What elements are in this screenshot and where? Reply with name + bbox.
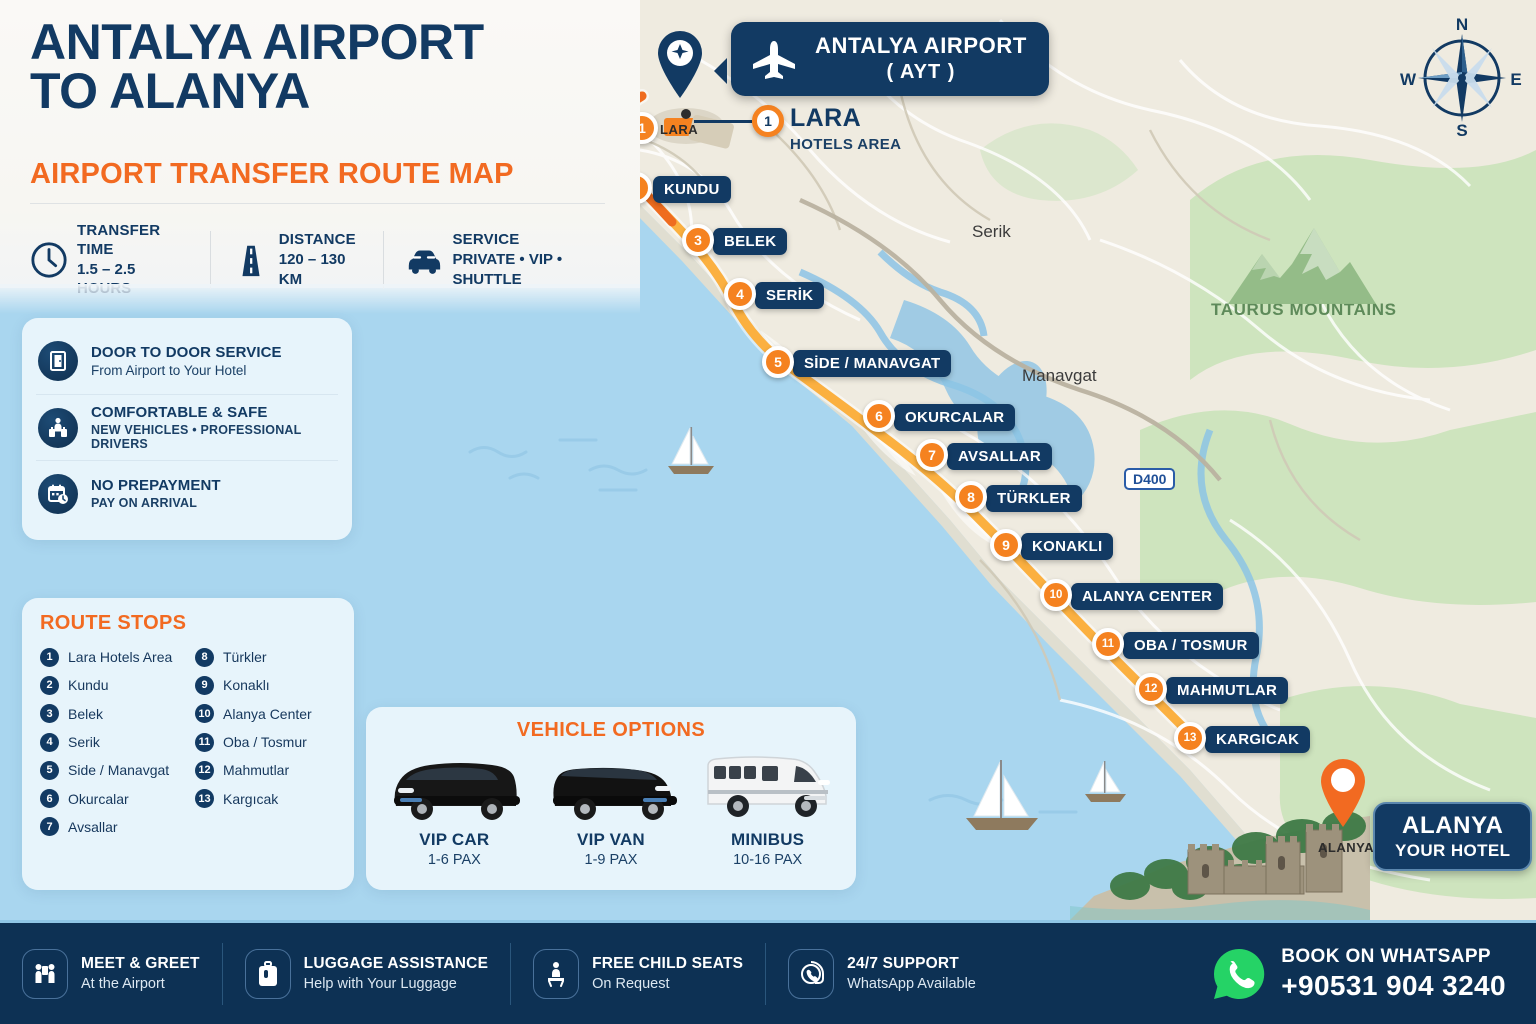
- route-stop-item[interactable]: 3Belek: [40, 700, 181, 728]
- calendar-clock-icon: [38, 474, 78, 514]
- route-stop-item[interactable]: 12Mahmutlar: [195, 756, 336, 784]
- footer-support-desc: WhatsApp Available: [847, 976, 976, 992]
- map-marker-12[interactable]: 12: [1135, 673, 1167, 705]
- route-stop-item[interactable]: 8Türkler: [195, 643, 336, 671]
- footer-meet-greet: MEET & GREET At the Airport: [0, 943, 222, 1005]
- route-stop-item[interactable]: 11Oba / Tosmur: [195, 728, 336, 756]
- lara-callout-subtitle: HOTELS AREA: [790, 136, 901, 153]
- map-marker-label-11[interactable]: OBA / TOSMUR: [1123, 632, 1259, 659]
- footer-bar: MEET & GREET At the Airport LUGGAGE ASSI…: [0, 920, 1536, 1024]
- fact-service-label: SERVICE: [452, 231, 620, 250]
- place-label-serik: Serik: [972, 222, 1011, 242]
- map-marker-8[interactable]: 8: [955, 481, 987, 513]
- route-stop-number: 9: [195, 676, 214, 695]
- vip-car-image: [379, 746, 529, 824]
- footer-luggage-title: LUGGAGE ASSISTANCE: [304, 955, 488, 973]
- destination-label: ALANYA YOUR HOTEL: [1373, 802, 1532, 871]
- footer-meet-greet-desc: At the Airport: [81, 976, 200, 992]
- lara-callout-title: LARA: [790, 104, 901, 133]
- svg-text:N: N: [1456, 16, 1468, 34]
- sailboat-icon: [662, 424, 722, 480]
- route-stop-label: Mahmutlar: [223, 762, 289, 778]
- feature-comfortable-safe-title: COMFORTABLE & SAFE: [91, 404, 336, 421]
- vip-van-name: VIP VAN: [536, 830, 686, 850]
- infographic-root: TAURUS MOUNTAINS: [0, 0, 1536, 1024]
- road-shield-d400: D400: [1124, 468, 1175, 490]
- footer-child-seats-desc: On Request: [592, 976, 743, 992]
- route-stop-label: Alanya Center: [223, 706, 312, 722]
- lara-callout: LARA HOTELS AREA: [790, 104, 901, 153]
- whatsapp-cta[interactable]: BOOK ON WHATSAPP +90531 904 3240: [1211, 946, 1536, 1002]
- feature-no-prepayment-title: NO PREPAYMENT: [91, 477, 221, 494]
- vehicle-option-minibus[interactable]: MINIBUS 10-16 PAX: [693, 746, 843, 868]
- route-stop-item[interactable]: 4Serik: [40, 728, 181, 756]
- footer-luggage-desc: Help with Your Luggage: [304, 976, 488, 992]
- route-stop-number: 13: [195, 789, 214, 808]
- header-divider: [30, 203, 605, 204]
- map-marker-13[interactable]: 13: [1174, 722, 1206, 754]
- child-seat-icon: [533, 949, 579, 999]
- minibus-name: MINIBUS: [693, 830, 843, 850]
- fact-distance-label: DISTANCE: [279, 231, 364, 250]
- vehicle-option-vip-car[interactable]: VIP CAR 1-6 PAX: [379, 746, 529, 868]
- page-title-line1: ANTALYA AIRPORT: [30, 18, 590, 67]
- whatsapp-icon: [1211, 946, 1267, 1002]
- fact-distance-value: 120 – 130 KM: [279, 250, 364, 289]
- route-stop-label: Kundu: [68, 677, 108, 693]
- map-marker-label-2[interactable]: KUNDU: [653, 176, 731, 203]
- vehicle-options-panel: VEHICLE OPTIONS VIP CAR 1-6 PAX: [366, 707, 856, 890]
- suitcase-icon: [245, 949, 291, 999]
- route-stops-column-1: 1Lara Hotels Area2Kundu3Belek4Serik5Side…: [40, 643, 181, 841]
- map-marker-4[interactable]: 4: [724, 278, 756, 310]
- route-stop-number: 3: [40, 704, 59, 723]
- route-stop-number: 7: [40, 817, 59, 836]
- luggage-person-icon: [38, 408, 78, 448]
- whatsapp-label: BOOK ON WHATSAPP: [1281, 946, 1506, 968]
- vip-car-name: VIP CAR: [379, 830, 529, 850]
- route-stop-number: 11: [195, 733, 214, 752]
- map-marker-7[interactable]: 7: [916, 439, 948, 471]
- map-marker-label-3[interactable]: BELEK: [713, 228, 787, 255]
- place-label-manavgat: Manavgat: [1022, 366, 1097, 386]
- footer-meet-greet-title: MEET & GREET: [81, 955, 200, 973]
- route-stop-item[interactable]: 13Kargıcak: [195, 784, 336, 812]
- mountains-illustration: [1222, 218, 1382, 308]
- clock-icon: [30, 241, 68, 279]
- map-marker-label-4[interactable]: SERİK: [755, 282, 824, 309]
- map-marker-11[interactable]: 11: [1092, 628, 1124, 660]
- meet-greet-icon: [22, 949, 68, 999]
- route-stop-number: 8: [195, 648, 214, 667]
- sailboat-icon: [958, 758, 1050, 844]
- route-stop-label: Kargıcak: [223, 791, 278, 807]
- route-stops-heading: ROUTE STOPS: [40, 612, 336, 635]
- map-marker-9[interactable]: 9: [990, 529, 1022, 561]
- feature-door-to-door-title: DOOR TO DOOR SERVICE: [91, 344, 282, 361]
- page-title-line2: TO ALANYA: [30, 67, 590, 116]
- map-marker-label-6[interactable]: OKURCALAR: [894, 404, 1015, 431]
- feature-door-to-door-desc: From Airport to Your Hotel: [91, 363, 282, 378]
- route-stop-label: Konaklı: [223, 677, 270, 693]
- fact-service-value: PRIVATE • VIP • SHUTTLE: [452, 250, 620, 289]
- page-title: ANTALYA AIRPORT TO ALANYA: [30, 18, 590, 116]
- whatsapp-phone: +90531 904 3240: [1281, 970, 1506, 1002]
- route-stop-label: Belek: [68, 706, 103, 722]
- footer-support-title: 24/7 SUPPORT: [847, 955, 976, 973]
- footer-luggage: LUGGAGE ASSISTANCE Help with Your Luggag…: [222, 943, 510, 1005]
- map-marker-label-8[interactable]: TÜRKLER: [986, 485, 1082, 512]
- car-icon: [405, 241, 443, 279]
- fact-service: SERVICE PRIVATE • VIP • SHUTTLE: [383, 231, 640, 289]
- route-stop-label: Avsallar: [68, 819, 118, 835]
- minibus-pax: 10-16 PAX: [693, 852, 843, 868]
- route-stop-label: Oba / Tosmur: [223, 734, 307, 750]
- route-stop-item[interactable]: 2Kundu: [40, 671, 181, 699]
- airport-pin-icon: [656, 28, 704, 98]
- destination-pin-icon: [1318, 755, 1368, 827]
- route-stop-item[interactable]: 1Lara Hotels Area: [40, 643, 181, 671]
- vip-car-pax: 1-6 PAX: [379, 852, 529, 868]
- fact-transfer-time-label: TRANSFER TIME: [77, 222, 190, 260]
- svg-text:W: W: [1400, 70, 1417, 89]
- footer-child-seats-title: FREE CHILD SEATS: [592, 955, 743, 973]
- road-icon: [232, 241, 270, 279]
- map-marker-label-12[interactable]: MAHMUTLAR: [1166, 677, 1288, 704]
- fact-transfer-time-value: 1.5 – 2.5 HOURS: [77, 260, 190, 299]
- map-marker-label-7[interactable]: AVSALLAR: [947, 443, 1052, 470]
- route-stop-number: 4: [40, 733, 59, 752]
- route-stops-column-2: 8Türkler9Konaklı10Alanya Center11Oba / T…: [195, 643, 336, 841]
- map-marker-label-10[interactable]: ALANYA CENTER: [1071, 583, 1223, 610]
- route-stop-label: Okurcalar: [68, 791, 129, 807]
- map-marker-10[interactable]: 10: [1040, 579, 1072, 611]
- headset-icon: [788, 949, 834, 999]
- vip-van-image: [536, 746, 686, 824]
- airport-callout-title: ANTALYA AIRPORT: [815, 33, 1027, 59]
- svg-text:S: S: [1456, 121, 1467, 140]
- destination-title: ALANYA: [1395, 812, 1510, 840]
- header: ANTALYA AIRPORT TO ALANYA AIRPORT TRANSF…: [0, 0, 640, 288]
- feature-door-to-door: DOOR TO DOOR SERVICE From Airport to You…: [36, 328, 338, 394]
- route-stop-label: Side / Manavgat: [68, 762, 169, 778]
- fact-distance: DISTANCE 120 – 130 KM: [210, 231, 384, 289]
- map-marker-label-5[interactable]: SİDE / MANAVGAT: [793, 350, 951, 377]
- route-stop-item[interactable]: 7Avsallar: [40, 813, 181, 841]
- route-stop-item[interactable]: 9Konaklı: [195, 671, 336, 699]
- footer-support: 24/7 SUPPORT WhatsApp Available: [765, 943, 998, 1005]
- map-marker-label-9[interactable]: KONAKLI: [1021, 533, 1113, 560]
- destination-subtitle: YOUR HOTEL: [1395, 841, 1510, 861]
- route-stop-item[interactable]: 6Okurcalar: [40, 784, 181, 812]
- route-stop-number: 10: [195, 704, 214, 723]
- map-marker-5[interactable]: 5: [762, 346, 794, 378]
- door-icon: [38, 341, 78, 381]
- feature-comfortable-safe-desc: NEW VEHICLES • PROFESSIONAL DRIVERS: [91, 423, 336, 451]
- route-stop-label: Serik: [68, 734, 100, 750]
- route-stop-number: 6: [40, 789, 59, 808]
- map-marker-label-13[interactable]: KARGICAK: [1205, 726, 1310, 753]
- route-stops-panel: ROUTE STOPS 1Lara Hotels Area2Kundu3Bele…: [22, 598, 354, 890]
- page-subtitle: AIRPORT TRANSFER ROUTE MAP: [30, 158, 514, 191]
- airplane-icon: [749, 39, 799, 79]
- route-stop-item[interactable]: 5Side / Manavgat: [40, 756, 181, 784]
- route-stop-label: Lara Hotels Area: [68, 649, 172, 665]
- map-marker-3[interactable]: 3: [682, 224, 714, 256]
- airport-callout-code: ( AYT ): [815, 61, 1027, 84]
- route-stop-label: Türkler: [223, 649, 267, 665]
- fact-transfer-time: TRANSFER TIME 1.5 – 2.5 HOURS: [30, 222, 210, 299]
- vehicle-options-heading: VEHICLE OPTIONS: [376, 719, 846, 742]
- route-stop-item[interactable]: 10Alanya Center: [195, 700, 336, 728]
- map-marker-6[interactable]: 6: [863, 400, 895, 432]
- alanya-town-label: ALANYA: [1318, 840, 1374, 855]
- feature-no-prepayment-desc: PAY ON ARRIVAL: [91, 496, 221, 510]
- route-stop-number: 1: [40, 648, 59, 667]
- route-stop-number: 12: [195, 761, 214, 780]
- lara-connector-line: [694, 120, 752, 123]
- map-marker-1-hollow[interactable]: 1: [752, 105, 784, 137]
- lara-town-label: LARA: [660, 122, 698, 137]
- compass-rose-icon: N S E W: [1398, 16, 1526, 140]
- svg-text:E: E: [1510, 70, 1521, 89]
- vip-van-pax: 1-9 PAX: [536, 852, 686, 868]
- minibus-image: [693, 746, 843, 824]
- route-stop-number: 2: [40, 676, 59, 695]
- features-panel: DOOR TO DOOR SERVICE From Airport to You…: [22, 318, 352, 540]
- airport-callout: ANTALYA AIRPORT ( AYT ): [731, 22, 1049, 96]
- route-stop-number: 5: [40, 761, 59, 780]
- vehicle-option-vip-van[interactable]: VIP VAN 1-9 PAX: [536, 746, 686, 868]
- feature-comfortable-safe: COMFORTABLE & SAFE NEW VEHICLES • PROFES…: [36, 394, 338, 460]
- header-facts: TRANSFER TIME 1.5 – 2.5 HOURS DISTANCE 1…: [30, 222, 640, 299]
- feature-no-prepayment: NO PREPAYMENT PAY ON ARRIVAL: [36, 460, 338, 526]
- footer-child-seats: FREE CHILD SEATS On Request: [510, 943, 765, 1005]
